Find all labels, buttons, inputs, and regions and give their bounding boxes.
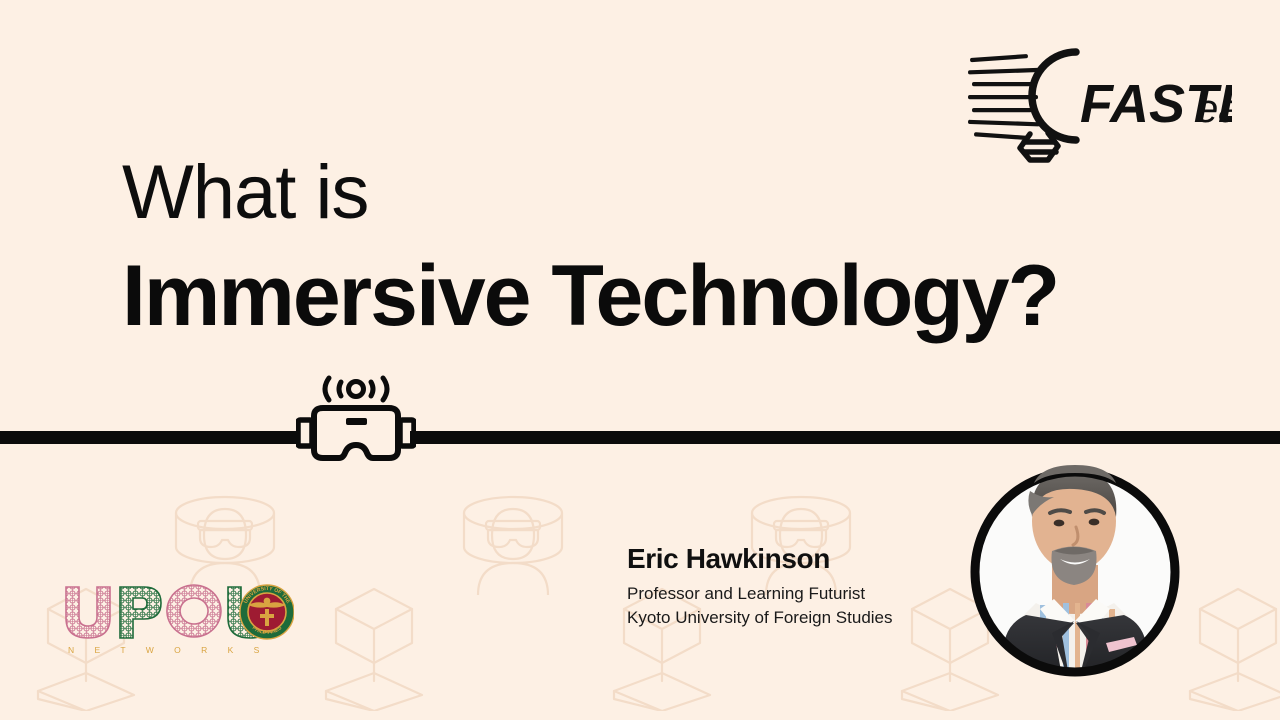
seal-year: 1908 <box>262 629 273 634</box>
upou-letter-u1 <box>66 587 110 638</box>
speaker-name: Eric Hawkinson <box>627 543 967 575</box>
up-seal-icon: UNIVERSITY OF THE PHILIPPINES 1908 <box>240 585 294 639</box>
title-line-2: Immersive Technology? <box>122 253 1122 339</box>
hologram-cube-icon <box>304 581 444 711</box>
upou-subtitle: N E T W O R K S <box>68 645 268 655</box>
slide-canvas: FASTL earn What is Immersive Technology? <box>0 0 1280 720</box>
upou-networks-logo: UNIVERSITY OF THE PHILIPPINES 1908 N E T… <box>62 583 294 659</box>
vr-person-360-icon <box>160 483 290 595</box>
divider-bar-left <box>0 431 299 444</box>
speaker-info: Eric Hawkinson Professor and Learning Fu… <box>627 543 967 630</box>
logo-text-light: earn <box>1196 87 1232 131</box>
title-line-1: What is <box>122 155 1122 231</box>
page-title: What is Immersive Technology? <box>122 155 1122 339</box>
vr-person-360-icon <box>448 483 578 595</box>
lightbulb-speed-icon: FASTL earn <box>968 38 1232 166</box>
divider-bar-right <box>410 431 1280 444</box>
upou-letter-o <box>167 585 221 637</box>
hologram-cube-icon <box>1168 581 1280 711</box>
avatar <box>968 447 1182 679</box>
upou-letter-p <box>120 587 161 638</box>
vr-headset-icon <box>296 374 416 471</box>
speaker-organization: Kyoto University of Foreign Studies <box>627 606 967 630</box>
fastlearn-logo: FASTL earn <box>968 38 1232 166</box>
speaker-role: Professor and Learning Futurist <box>627 582 967 606</box>
